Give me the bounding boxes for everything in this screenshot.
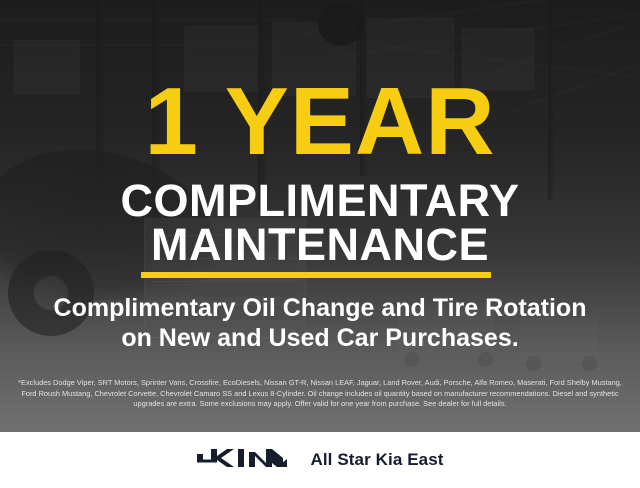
offer-detail-line-2: on New and Used Car Purchases. xyxy=(0,324,640,353)
dealer-name: All Star Kia East xyxy=(310,450,443,470)
kia-logo xyxy=(196,446,288,475)
disclaimer-fine-print: *Excludes Dodge Viper, SRT Motors, Sprin… xyxy=(14,378,626,410)
brand-footer: All Star Kia East xyxy=(0,432,640,488)
yellow-divider-rule xyxy=(141,272,491,278)
headline-secondary-line-2: MAINTENANCE xyxy=(0,222,640,267)
headline-primary: 1 YEAR xyxy=(0,74,640,170)
offer-detail-line-1: Complimentary Oil Change and Tire Rotati… xyxy=(0,294,640,323)
promo-copy-block: 1 YEAR COMPLIMENTARY MAINTENANCE Complim… xyxy=(0,0,640,432)
kia-maintenance-promo-banner: 1 YEAR COMPLIMENTARY MAINTENANCE Complim… xyxy=(0,0,640,488)
headline-secondary-line-1: COMPLIMENTARY xyxy=(0,178,640,223)
